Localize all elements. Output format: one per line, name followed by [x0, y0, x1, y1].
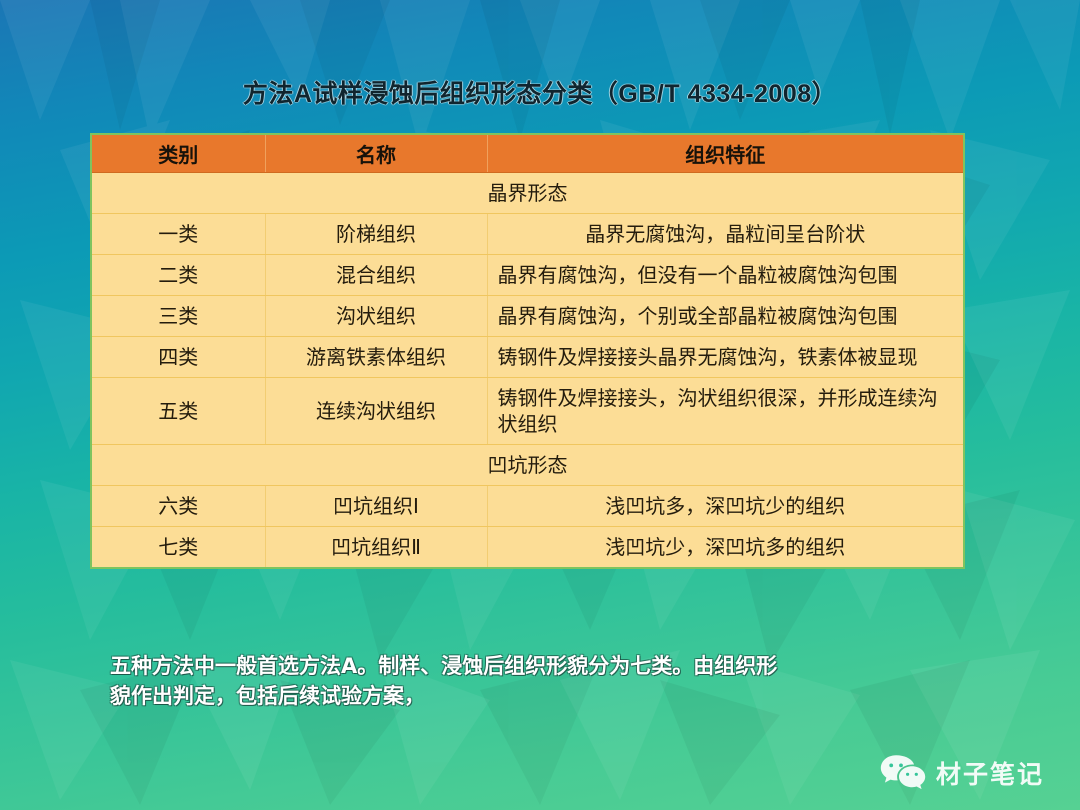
cell-name: 凹坑组织Ⅱ	[265, 527, 487, 568]
table-header-row: 类别 名称 组织特征	[92, 135, 963, 173]
table-body: 晶界形态 一类 阶梯组织 晶界无腐蚀沟，晶粒间呈台阶状 二类 混合组织 晶界有腐…	[92, 173, 963, 568]
cell-category: 三类	[92, 296, 265, 337]
table-row: 五类 连续沟状组织 铸钢件及焊接接头，沟状组织很深，并形成连续沟状组织	[92, 378, 963, 445]
cell-category: 一类	[92, 214, 265, 255]
cell-name: 阶梯组织	[265, 214, 487, 255]
slide-canvas: 方法A试样浸蚀后组织形态分类（GB/T 4334-2008） 类别 名称 组织特…	[0, 0, 1080, 810]
section-label: 凹坑形态	[92, 445, 963, 486]
caption-block: 五种方法中一般首选方法A。制样、浸蚀后组织形貌分为七类。由组织形 貌作出判定，包…	[110, 652, 980, 712]
table-header: 类别 名称 组织特征	[92, 135, 963, 173]
column-header-feature: 组织特征	[487, 135, 963, 173]
cell-name: 沟状组织	[265, 296, 487, 337]
column-header-category: 类别	[92, 135, 265, 173]
table-row: 四类 游离铁素体组织 铸钢件及焊接接头晶界无腐蚀沟，铁素体被显现	[92, 337, 963, 378]
cell-name: 游离铁素体组织	[265, 337, 487, 378]
cell-feature: 晶界有腐蚀沟，但没有一个晶粒被腐蚀沟包围	[487, 255, 963, 296]
cell-feature: 浅凹坑多，深凹坑少的组织	[487, 486, 963, 527]
cell-feature: 铸钢件及焊接接头晶界无腐蚀沟，铁素体被显现	[487, 337, 963, 378]
cell-feature: 晶界无腐蚀沟，晶粒间呈台阶状	[487, 214, 963, 255]
cell-category: 四类	[92, 337, 265, 378]
cell-category: 六类	[92, 486, 265, 527]
column-header-name: 名称	[265, 135, 487, 173]
cell-name: 连续沟状组织	[265, 378, 487, 445]
section-label: 晶界形态	[92, 173, 963, 214]
watermark: 材子笔记	[880, 754, 1044, 792]
cell-category: 五类	[92, 378, 265, 445]
section-header-row: 凹坑形态	[92, 445, 963, 486]
table-row: 一类 阶梯组织 晶界无腐蚀沟，晶粒间呈台阶状	[92, 214, 963, 255]
watermark-text: 材子笔记	[936, 755, 1044, 791]
table-row: 三类 沟状组织 晶界有腐蚀沟，个别或全部晶粒被腐蚀沟包围	[92, 296, 963, 337]
table-row: 二类 混合组织 晶界有腐蚀沟，但没有一个晶粒被腐蚀沟包围	[92, 255, 963, 296]
page-title: 方法A试样浸蚀后组织形态分类（GB/T 4334-2008）	[0, 74, 1080, 110]
cell-feature: 晶界有腐蚀沟，个别或全部晶粒被腐蚀沟包围	[487, 296, 963, 337]
table-row: 七类 凹坑组织Ⅱ 浅凹坑少，深凹坑多的组织	[92, 527, 963, 568]
cell-feature: 铸钢件及焊接接头，沟状组织很深，并形成连续沟状组织	[487, 378, 963, 445]
cell-category: 二类	[92, 255, 265, 296]
wechat-icon	[880, 754, 926, 792]
cell-name: 混合组织	[265, 255, 487, 296]
wechat-icon-svg	[880, 754, 926, 792]
cell-name: 凹坑组织Ⅰ	[265, 486, 487, 527]
classification-table: 类别 名称 组织特征 晶界形态 一类 阶梯组织 晶界无腐蚀沟，晶粒间呈台阶状 二…	[92, 135, 963, 567]
section-header-row: 晶界形态	[92, 173, 963, 214]
cell-feature: 浅凹坑少，深凹坑多的组织	[487, 527, 963, 568]
cell-category: 七类	[92, 527, 265, 568]
caption-line-2: 貌作出判定，包括后续试验方案，	[110, 682, 980, 712]
table-row: 六类 凹坑组织Ⅰ 浅凹坑多，深凹坑少的组织	[92, 486, 963, 527]
caption-line-1: 五种方法中一般首选方法A。制样、浸蚀后组织形貌分为七类。由组织形	[110, 652, 980, 682]
